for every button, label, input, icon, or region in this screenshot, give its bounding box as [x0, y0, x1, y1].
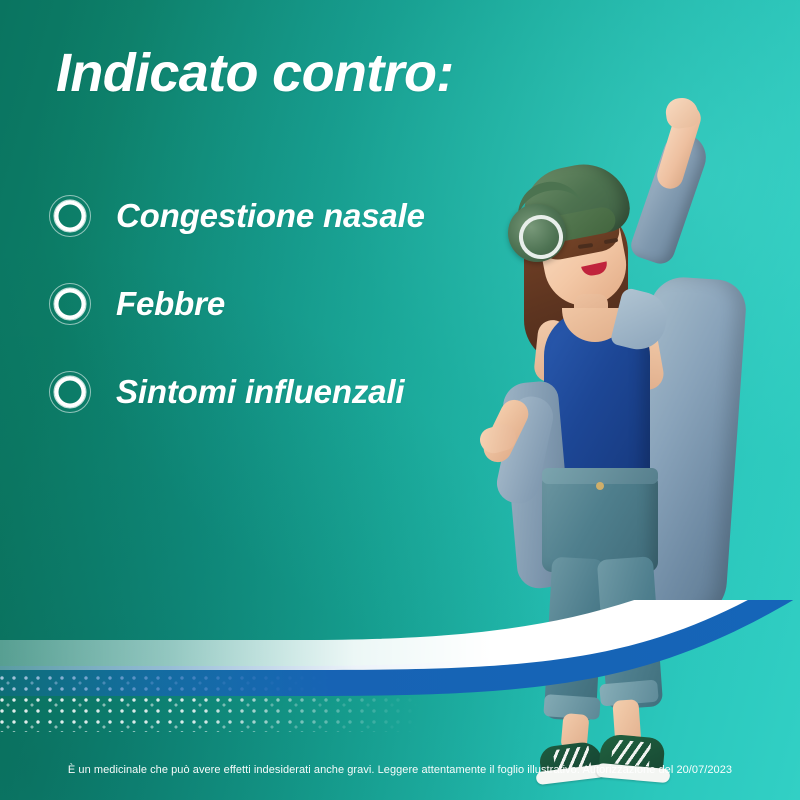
advertisement-canvas: Indicato contro: Congestione nasale Febb… [0, 0, 800, 800]
indication-label: Febbre [116, 285, 225, 323]
concentric-circle-icon [50, 196, 90, 236]
indication-label: Sintomi influenzali [116, 373, 404, 411]
halftone-dots-decoration [0, 676, 420, 732]
model-photo [470, 96, 800, 736]
page-title: Indicato contro: [56, 44, 676, 102]
sneaker-laces-right [611, 739, 651, 766]
jeans-button [596, 482, 604, 490]
concentric-circle-icon [50, 372, 90, 412]
indication-label: Congestione nasale [116, 197, 425, 235]
concentric-circle-icon [50, 284, 90, 324]
legal-disclaimer: È un medicinale che può avere effetti in… [0, 764, 800, 777]
raised-hand [664, 96, 700, 130]
